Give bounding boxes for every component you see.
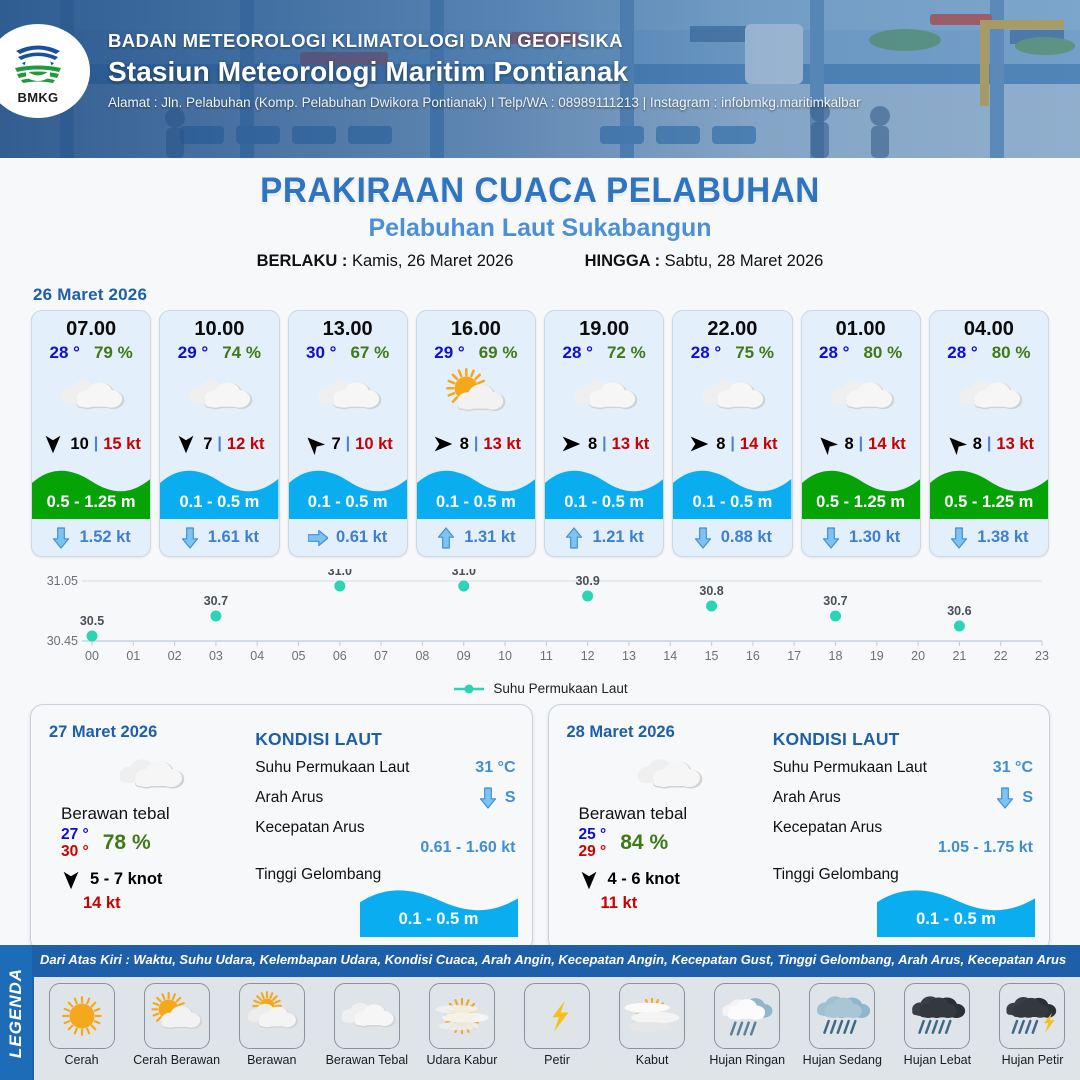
current-direction-label: S xyxy=(1022,789,1033,807)
card-time: 13.00 xyxy=(289,311,407,343)
sst-chart: 31.0530.45000102030405060708091011121314… xyxy=(30,569,1050,677)
card-current: 1.38 kt xyxy=(930,519,1048,556)
legend-item-label: Hujan Petir xyxy=(1002,1053,1064,1067)
wind-speed: 8 xyxy=(844,435,853,454)
station-address: Alamat : Jln. Pelabuhan (Komp. Pelabuhan… xyxy=(108,95,861,110)
wind-speed: 7 xyxy=(203,435,212,454)
daily-forecast-row: 27 Maret 2026 Berawan tebal 27 ° 30 ° 78… xyxy=(0,696,1080,952)
wind-gust: 14 kt xyxy=(740,435,778,454)
current-speed-range: 0.61 - 1.60 kt xyxy=(255,839,515,857)
svg-text:12: 12 xyxy=(581,649,595,663)
daily-temp-min: 25 ° xyxy=(579,826,607,843)
current-direction-arrow-icon xyxy=(995,786,1015,810)
wind-speed: 8 xyxy=(588,435,597,454)
wave-height-value: 0.1 - 0.5 m xyxy=(545,493,663,512)
card-temperature: 28 ° xyxy=(50,343,80,363)
page-subtitle: Pelabuhan Laut Sukabangun xyxy=(0,214,1080,243)
card-temperature: 28 ° xyxy=(691,343,721,363)
legend-marker xyxy=(452,683,486,695)
svg-text:17: 17 xyxy=(787,649,801,663)
legend-item: Hujan Sedang xyxy=(795,983,890,1067)
card-current: 1.21 kt xyxy=(545,519,663,556)
daily-left-column: 27 Maret 2026 Berawan tebal 27 ° 30 ° 78… xyxy=(31,705,251,951)
daily-row: Arah Arus S xyxy=(255,786,515,810)
hourly-card: 13.00 30 ° 67 % 7 | 10 kt xyxy=(288,310,408,557)
bmkg-logo-mark xyxy=(10,37,66,89)
wave-height-band: 0.1 - 0.5 m xyxy=(545,461,663,519)
hourly-card: 01.00 28 ° 80 % 8 | 14 kt xyxy=(801,310,921,557)
current-direction-arrow-icon xyxy=(478,786,498,810)
wind-separator: | xyxy=(346,435,350,453)
wind-speed: 8 xyxy=(460,435,469,454)
card-humidity: 69 % xyxy=(479,343,518,363)
wave-height-band: 0.1 - 0.5 m xyxy=(289,461,407,519)
daily-wave-band: 0.1 - 0.5 m xyxy=(877,881,1035,937)
legend-caption: Dari Atas Kiri : Waktu, Suhu Udara, Kele… xyxy=(40,952,1072,967)
svg-text:13: 13 xyxy=(622,649,636,663)
daily-wave-band: 0.1 - 0.5 m xyxy=(360,881,518,937)
valid-until-value: Sabtu, 28 Maret 2026 xyxy=(665,252,824,270)
legend-item-label: Hujan Sedang xyxy=(803,1053,882,1067)
daily-date: 28 Maret 2026 xyxy=(567,723,769,742)
wave-height-band: 0.1 - 0.5 m xyxy=(673,461,791,519)
legend-item: Hujan Ringan xyxy=(700,983,795,1067)
valid-from-value: Kamis, 26 Maret 2026 xyxy=(352,252,513,270)
station-name: Stasiun Meteorologi Maritim Pontianak xyxy=(108,56,861,88)
card-current: 1.30 kt xyxy=(802,519,920,556)
legend-item-label: Hujan Lebat xyxy=(904,1053,971,1067)
validity-period: BERLAKU : Kamis, 26 Maret 2026 HINGGA : … xyxy=(0,252,1080,271)
daily-row: Arah Arus S xyxy=(773,786,1033,810)
legend-item-label: Cerah Berawan xyxy=(133,1053,220,1067)
wave-height-value: 0.1 - 0.5 m xyxy=(160,493,278,512)
wave-height-value: 0.1 - 0.5 m xyxy=(289,493,407,512)
chart-legend-label: Suhu Permukaan Laut xyxy=(493,681,627,696)
wind-separator: | xyxy=(602,435,606,453)
weather-icon xyxy=(930,365,1048,427)
hourly-card: 22.00 28 ° 75 % 8 | 14 kt xyxy=(672,310,792,557)
sea-conditions-heading: KONDISI LAUT xyxy=(255,729,515,750)
card-temperature: 28 ° xyxy=(819,343,849,363)
svg-text:00: 00 xyxy=(85,649,99,663)
wind-direction-arrow-icon xyxy=(944,432,968,456)
legend-item: Cerah Berawan xyxy=(129,983,224,1067)
card-wind: 10 | 15 kt xyxy=(32,427,150,461)
card-humidity: 74 % xyxy=(222,343,261,363)
current-direction-arrow-icon xyxy=(693,526,713,550)
legend-item: Petir xyxy=(509,983,604,1067)
current-speed: 1.61 kt xyxy=(208,528,259,547)
legend-item-label: Petir xyxy=(544,1053,570,1067)
legend-item: Berawan Tebal xyxy=(319,983,414,1067)
wind-direction-arrow-icon xyxy=(815,432,839,456)
legend-item: Kabut xyxy=(605,983,700,1067)
card-wind: 8 | 14 kt xyxy=(802,427,920,461)
wind-separator: | xyxy=(217,435,221,453)
legend-item: Udara Kabur xyxy=(414,983,509,1067)
current-speed: 1.38 kt xyxy=(977,528,1028,547)
card-humidity: 80 % xyxy=(863,343,902,363)
legend-item-label: Hujan Ringan xyxy=(709,1053,785,1067)
daily-date: 27 Maret 2026 xyxy=(49,723,251,742)
legend-icon-hujan-sedang-icon xyxy=(809,983,875,1049)
svg-text:31.05: 31.05 xyxy=(47,574,78,588)
weather-icon xyxy=(802,365,920,427)
svg-text:10: 10 xyxy=(498,649,512,663)
wind-separator: | xyxy=(94,435,98,453)
daily-temp-max: 29 ° xyxy=(579,843,607,860)
legend-side-bar-label: LEGENDA xyxy=(6,967,26,1057)
wave-height-value: 0.5 - 1.25 m xyxy=(32,493,150,512)
hourly-forecast-row: 07.00 28 ° 79 % 10 | 15 kt xyxy=(0,310,1080,557)
hourly-card: 10.00 29 ° 74 % 7 | 12 kt xyxy=(159,310,279,557)
daily-row-label: Suhu Permukaan Laut xyxy=(255,759,409,777)
current-speed: 0.61 kt xyxy=(336,528,387,547)
daily-wave-value: 0.1 - 0.5 m xyxy=(877,910,1035,929)
svg-text:08: 08 xyxy=(415,649,429,663)
wave-height-band: 0.5 - 1.25 m xyxy=(930,461,1048,519)
card-temperature: 28 ° xyxy=(947,343,977,363)
svg-text:03: 03 xyxy=(209,649,223,663)
legend-side-bar: LEGENDA xyxy=(0,945,32,1080)
svg-text:09: 09 xyxy=(457,649,471,663)
daily-sea-conditions: KONDISI LAUT Suhu Permukaan Laut 31 °C A… xyxy=(251,705,531,951)
daily-row-label: Arah Arus xyxy=(255,789,323,807)
legend-item: Hujan Petir xyxy=(985,983,1080,1067)
card-temp-humidity: 28 ° 75 % xyxy=(673,343,791,365)
svg-text:30.7: 30.7 xyxy=(823,594,847,608)
svg-text:02: 02 xyxy=(168,649,182,663)
daily-row-label: Kecepatan Arus xyxy=(773,819,882,837)
card-humidity: 80 % xyxy=(992,343,1031,363)
valid-from-label: BERLAKU : xyxy=(257,252,348,270)
hourly-card: 16.00 29 ° 69 % 8 | 13 kt 0.1 - 0.5 m xyxy=(416,310,536,557)
current-direction-arrow-icon xyxy=(821,526,841,550)
wind-speed: 8 xyxy=(973,435,982,454)
wave-height-value: 0.1 - 0.5 m xyxy=(417,493,535,512)
card-humidity: 79 % xyxy=(94,343,133,363)
legend-item: Hujan Lebat xyxy=(890,983,985,1067)
legend-item-label: Kabut xyxy=(636,1053,669,1067)
current-direction-arrow-icon xyxy=(51,526,71,550)
page-header: BMKG BADAN METEOROLOGI KLIMATOLOGI DAN G… xyxy=(0,0,1080,158)
daily-row: Suhu Permukaan Laut 31 °C xyxy=(773,759,1033,777)
bmkg-logo-text: BMKG xyxy=(18,90,59,105)
current-speed: 1.52 kt xyxy=(79,528,130,547)
header-text-block: BADAN METEOROLOGI KLIMATOLOGI DAN GEOFIS… xyxy=(108,30,861,110)
card-current: 1.61 kt xyxy=(160,519,278,556)
page-title: PRAKIRAAN CUACA PELABUHAN xyxy=(27,171,1053,211)
card-time: 16.00 xyxy=(417,311,535,343)
current-direction-arrow-icon xyxy=(564,526,584,550)
svg-text:11: 11 xyxy=(540,649,553,663)
wind-gust: 13 kt xyxy=(612,435,650,454)
wave-height-value: 0.1 - 0.5 m xyxy=(673,493,791,512)
legend-items-row: Cerah Cerah Berawan Berawan xyxy=(34,977,1080,1080)
daily-row-value: 31 °C xyxy=(475,759,515,777)
svg-text:21: 21 xyxy=(952,649,966,663)
card-temp-humidity: 30 ° 67 % xyxy=(289,343,407,365)
daily-row: Kecepatan Arus xyxy=(773,819,1033,837)
legend-icon-udara-kabur-icon xyxy=(429,983,495,1049)
daily-row-label: Kecepatan Arus xyxy=(255,819,364,837)
card-wind: 8 | 13 kt xyxy=(417,427,535,461)
daily-row-label: Arah Arus xyxy=(773,789,841,807)
agency-name: BADAN METEOROLOGI KLIMATOLOGI DAN GEOFIS… xyxy=(108,30,861,52)
daily-wind-gust: 14 kt xyxy=(83,894,251,913)
daily-wind-gust: 11 kt xyxy=(601,894,769,913)
wind-gust: 12 kt xyxy=(227,435,265,454)
legend-icon-cerah-berawan-icon xyxy=(144,983,210,1049)
svg-text:30.6: 30.6 xyxy=(947,604,971,618)
legend-item: Cerah xyxy=(34,983,129,1067)
wind-direction-arrow-icon xyxy=(431,432,455,456)
card-current: 1.31 kt xyxy=(417,519,535,556)
svg-text:31.0: 31.0 xyxy=(452,569,476,578)
weather-icon xyxy=(673,365,791,427)
current-speed: 1.30 kt xyxy=(849,528,900,547)
card-wind: 8 | 14 kt xyxy=(673,427,791,461)
svg-text:14: 14 xyxy=(663,649,677,663)
current-direction-arrow-icon xyxy=(308,526,328,550)
daily-condition: Berawan tebal xyxy=(61,804,251,824)
daily-left-column: 28 Maret 2026 Berawan tebal 25 ° 29 ° 84… xyxy=(549,705,769,951)
daily-row: Suhu Permukaan Laut 31 °C xyxy=(255,759,515,777)
svg-text:22: 22 xyxy=(994,649,1008,663)
legend-item-label: Berawan xyxy=(247,1053,296,1067)
wind-speed: 7 xyxy=(331,435,340,454)
svg-text:07: 07 xyxy=(374,649,388,663)
daily-wind-range: 5 - 7 knot xyxy=(90,870,162,889)
current-speed: 1.21 kt xyxy=(592,528,643,547)
card-temperature: 29 ° xyxy=(178,343,208,363)
legend-icon-cerah-icon xyxy=(49,983,115,1049)
current-direction-arrow-icon xyxy=(949,526,969,550)
daily-temp-humidity: 27 ° 30 ° 78 % xyxy=(61,826,251,861)
daily-sea-conditions: KONDISI LAUT Suhu Permukaan Laut 31 °C A… xyxy=(769,705,1049,951)
legend-icon-petir-icon xyxy=(524,983,590,1049)
card-time: 19.00 xyxy=(545,311,663,343)
daily-forecast-panel: 28 Maret 2026 Berawan tebal 25 ° 29 ° 84… xyxy=(548,704,1051,952)
wave-height-band: 0.1 - 0.5 m xyxy=(417,461,535,519)
card-humidity: 75 % xyxy=(735,343,774,363)
daily-row-label: Suhu Permukaan Laut xyxy=(773,759,927,777)
svg-text:30.9: 30.9 xyxy=(575,574,599,588)
wind-direction-arrow-icon xyxy=(59,868,83,892)
wind-direction-arrow-icon xyxy=(174,432,198,456)
legend-icon-hujan-lebat-icon xyxy=(904,983,970,1049)
svg-text:05: 05 xyxy=(292,649,306,663)
card-wind: 8 | 13 kt xyxy=(930,427,1048,461)
svg-text:19: 19 xyxy=(870,649,884,663)
daily-condition: Berawan tebal xyxy=(579,804,769,824)
card-temp-humidity: 28 ° 79 % xyxy=(32,343,150,365)
valid-until-label: HINGGA : xyxy=(585,252,660,270)
wind-gust: 13 kt xyxy=(996,435,1034,454)
legend-icon-berawan-tebal-icon xyxy=(334,983,400,1049)
legend-item-label: Udara Kabur xyxy=(426,1053,497,1067)
sea-conditions-heading: KONDISI LAUT xyxy=(773,729,1033,750)
daily-humidity: 78 % xyxy=(103,831,151,855)
card-wind: 8 | 13 kt xyxy=(545,427,663,461)
daily-temp-max: 30 ° xyxy=(61,843,89,860)
card-humidity: 67 % xyxy=(350,343,389,363)
weather-icon xyxy=(545,365,663,427)
daily-row-value: S xyxy=(995,786,1033,810)
card-temp-humidity: 28 ° 80 % xyxy=(930,343,1048,365)
current-direction-arrow-icon xyxy=(436,526,456,550)
daily-temp-min: 27 ° xyxy=(61,826,89,843)
current-speed-range: 1.05 - 1.75 kt xyxy=(773,839,1033,857)
weather-icon xyxy=(289,365,407,427)
card-humidity: 72 % xyxy=(607,343,646,363)
daily-wind: 4 - 6 knot xyxy=(577,868,769,892)
daily-row-value: S xyxy=(478,786,516,810)
daily-row: Kecepatan Arus xyxy=(255,819,515,837)
weather-icon xyxy=(160,365,278,427)
legend-icon-berawan-icon xyxy=(239,983,305,1049)
card-current: 1.52 kt xyxy=(32,519,150,556)
card-wind: 7 | 12 kt xyxy=(160,427,278,461)
wind-direction-arrow-icon xyxy=(302,432,326,456)
card-temp-humidity: 29 ° 74 % xyxy=(160,343,278,365)
wind-gust: 13 kt xyxy=(483,435,521,454)
svg-text:30.5: 30.5 xyxy=(80,614,104,628)
svg-text:04: 04 xyxy=(250,649,264,663)
wave-height-band: 0.1 - 0.5 m xyxy=(160,461,278,519)
svg-text:20: 20 xyxy=(911,649,925,663)
card-temperature: 28 ° xyxy=(563,343,593,363)
svg-text:15: 15 xyxy=(705,649,719,663)
card-time: 04.00 xyxy=(930,311,1048,343)
daily-temp-humidity: 25 ° 29 ° 84 % xyxy=(579,826,769,861)
legend-icon-hujan-petir-icon xyxy=(999,983,1065,1049)
card-time: 10.00 xyxy=(160,311,278,343)
svg-text:01: 01 xyxy=(126,649,140,663)
wind-separator: | xyxy=(987,435,991,453)
daily-wind: 5 - 7 knot xyxy=(59,868,251,892)
legend-section: LEGENDA Dari Atas Kiri : Waktu, Suhu Uda… xyxy=(0,945,1080,1080)
wind-gust: 15 kt xyxy=(103,435,141,454)
svg-text:30.45: 30.45 xyxy=(47,634,78,648)
daily-humidity: 84 % xyxy=(620,831,668,855)
wind-speed: 8 xyxy=(716,435,725,454)
wind-separator: | xyxy=(730,435,734,453)
current-speed: 1.31 kt xyxy=(464,528,515,547)
wind-gust: 10 kt xyxy=(355,435,393,454)
card-wind: 7 | 10 kt xyxy=(289,427,407,461)
wind-speed: 10 xyxy=(70,435,88,454)
daily-weather-icon xyxy=(567,746,769,804)
wind-gust: 14 kt xyxy=(868,435,906,454)
card-temp-humidity: 29 ° 69 % xyxy=(417,343,535,365)
wind-separator: | xyxy=(474,435,478,453)
card-time: 01.00 xyxy=(802,311,920,343)
legend-item-label: Berawan Tebal xyxy=(326,1053,408,1067)
daily-row-value: 31 °C xyxy=(993,759,1033,777)
daily-wave-value: 0.1 - 0.5 m xyxy=(360,910,518,929)
legend-icon-kabut-icon xyxy=(619,983,685,1049)
wind-separator: | xyxy=(859,435,863,453)
wave-height-band: 0.5 - 1.25 m xyxy=(802,461,920,519)
current-direction-arrow-icon xyxy=(180,526,200,550)
daily-forecast-panel: 27 Maret 2026 Berawan tebal 27 ° 30 ° 78… xyxy=(30,704,533,952)
current-speed: 0.88 kt xyxy=(721,528,772,547)
title-block: PRAKIRAAN CUACA PELABUHAN Pelabuhan Laut… xyxy=(0,158,1080,271)
weather-icon xyxy=(32,365,150,427)
wind-direction-arrow-icon xyxy=(41,432,65,456)
daily-wind-range: 4 - 6 knot xyxy=(608,870,680,889)
hourly-card: 19.00 28 ° 72 % 8 | 13 kt xyxy=(544,310,664,557)
card-temperature: 29 ° xyxy=(434,343,464,363)
card-current: 0.61 kt xyxy=(289,519,407,556)
current-direction-label: S xyxy=(505,789,516,807)
chart-legend: Suhu Permukaan Laut xyxy=(0,681,1080,696)
svg-text:06: 06 xyxy=(333,649,347,663)
wind-direction-arrow-icon xyxy=(559,432,583,456)
card-current: 0.88 kt xyxy=(673,519,791,556)
hourly-card: 07.00 28 ° 79 % 10 | 15 kt xyxy=(31,310,151,557)
svg-text:30.8: 30.8 xyxy=(699,584,723,598)
wave-height-band: 0.5 - 1.25 m xyxy=(32,461,150,519)
svg-text:23: 23 xyxy=(1035,649,1049,663)
wave-height-value: 0.5 - 1.25 m xyxy=(930,493,1048,512)
legend-item: Berawan xyxy=(224,983,319,1067)
legend-item-label: Cerah xyxy=(65,1053,99,1067)
card-temperature: 30 ° xyxy=(306,343,336,363)
card-temp-humidity: 28 ° 80 % xyxy=(802,343,920,365)
svg-text:16: 16 xyxy=(746,649,760,663)
daily-weather-icon xyxy=(49,746,251,804)
legend-icon-hujan-ringan-icon xyxy=(714,983,780,1049)
wind-direction-arrow-icon xyxy=(687,432,711,456)
card-temp-humidity: 28 ° 72 % xyxy=(545,343,663,365)
hourly-date-label: 26 Maret 2026 xyxy=(33,285,1080,305)
wind-direction-arrow-icon xyxy=(577,868,601,892)
svg-text:31.0: 31.0 xyxy=(328,569,352,578)
card-time: 07.00 xyxy=(32,311,150,343)
weather-icon xyxy=(417,365,535,427)
hourly-card: 04.00 28 ° 80 % 8 | 13 kt xyxy=(929,310,1049,557)
card-time: 22.00 xyxy=(673,311,791,343)
wave-height-value: 0.5 - 1.25 m xyxy=(802,493,920,512)
svg-text:18: 18 xyxy=(829,649,843,663)
svg-text:30.7: 30.7 xyxy=(204,594,228,608)
